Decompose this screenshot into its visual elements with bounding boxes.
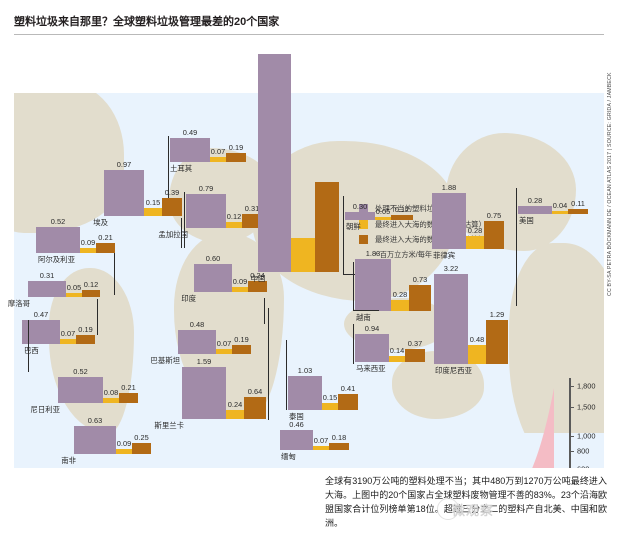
- country-label-myanmar: 缅甸: [281, 451, 296, 462]
- bar-ocean-low: 0.48: [468, 345, 486, 364]
- leader-line: [97, 299, 98, 335]
- bar-ocean-low: 0.28: [466, 236, 484, 249]
- bar-ocean-low: 0.07: [313, 446, 329, 450]
- bar-ocean-low: 0.07: [60, 339, 76, 344]
- country-label-morocco: 摩洛哥: [8, 298, 30, 309]
- bar-value-mismanaged: 1.83: [366, 249, 380, 258]
- country-label-india: 印度: [181, 293, 196, 304]
- bar-ocean-low: 0.08: [103, 398, 119, 403]
- bar-value-ocean-low: 0.28: [468, 226, 482, 235]
- bar-ocean-low: 0.14: [389, 356, 405, 362]
- source-credit: CC BY-SA PETRA BÖCKMANN DE / OCEAN ATLAS…: [603, 96, 617, 296]
- bar-value-ocean-high: 0.19: [78, 325, 92, 334]
- bar-mismanaged: 0.52: [36, 227, 80, 253]
- bar-ocean-high: 0.39: [162, 198, 182, 216]
- y-tick-mark: [569, 386, 574, 387]
- bar-ocean-high: 0.37: [405, 349, 425, 362]
- bar-ocean-low: 0.15: [144, 208, 162, 216]
- leader-line: [286, 340, 287, 410]
- bar-ocean-low: 0.09: [232, 287, 248, 292]
- footnote-text: 全球有3190万公吨的塑料处理不当；其中480万到1270万公吨最终进入大海。上…: [325, 474, 607, 530]
- bar-value-mismanaged: 0.63: [88, 416, 102, 425]
- bar-mismanaged: 0.30: [345, 212, 375, 220]
- bar-value-ocean-high: 1.29: [490, 310, 504, 319]
- bar-ocean-high: 0.18: [329, 443, 349, 450]
- bar-mismanaged: 3.22: [434, 274, 468, 364]
- title-divider: [14, 34, 604, 35]
- bar-ocean-low: 0.07: [210, 157, 226, 162]
- y-tick-label: 1,800: [577, 382, 596, 391]
- leader-line: [264, 298, 265, 324]
- bar-value-ocean-high: 0.41: [341, 384, 355, 393]
- bar-ocean-high: 0.19: [232, 345, 251, 354]
- bar-mismanaged: 0.49: [170, 138, 210, 162]
- bar-ocean-low: 0.09: [80, 248, 96, 253]
- bar-mismanaged: 8.82: [258, 55, 291, 272]
- bar-value-ocean-high: 0.21: [98, 233, 112, 242]
- bar-value-mismanaged: 0.94: [365, 324, 379, 333]
- country-label-turkey: 土耳其: [170, 163, 192, 174]
- bar-ocean-high: 1.29: [486, 320, 508, 364]
- production-y-axis: [569, 378, 571, 468]
- bar-mismanaged: 0.94: [355, 334, 389, 362]
- infographic-root: 塑料垃圾来自那里？全球塑料垃圾管理最差的20个国家 处理不当的塑料垃圾数量* 最…: [0, 0, 618, 553]
- country-label-sri-lanka: 斯里兰卡: [154, 420, 184, 431]
- global-production-chart: 1,800 1,500 1,000 800 600 400 200 1950 1…: [444, 378, 604, 468]
- bar-mismanaged: 1.59: [182, 367, 226, 419]
- bar-ocean-high: 0.75: [484, 221, 504, 249]
- bar-ocean-high: 0.64: [244, 397, 266, 419]
- bar-ocean-low: 0.05: [66, 293, 82, 297]
- bar-ocean-high: 0.11: [568, 209, 588, 214]
- bar-value-ocean-low: 0.09: [81, 238, 95, 247]
- leader-line: [353, 324, 354, 364]
- bar-mismanaged: 0.79: [186, 194, 226, 228]
- country-label-nigeria: 尼日利亚: [30, 404, 60, 415]
- watermark-circle: [437, 498, 459, 520]
- country-label-south-africa: 南非: [61, 455, 76, 466]
- bar-value-mismanaged: 0.60: [206, 254, 220, 263]
- leader-line: [184, 192, 185, 248]
- bar-value-ocean-low: 0.09: [117, 439, 131, 448]
- bar-value-ocean-high: 0.75: [487, 211, 501, 220]
- bar-mismanaged: 0.48: [178, 330, 216, 354]
- legend-swatch-ocean-high: [359, 235, 368, 244]
- bar-ocean-high: 0.21: [119, 393, 138, 403]
- bar-mismanaged: 0.60: [194, 264, 232, 292]
- bar-ocean-high: 0.12: [82, 290, 100, 297]
- y-tick-label: 1,000: [577, 432, 596, 441]
- y-tick-mark: [569, 407, 574, 408]
- y-tick-label: 1,500: [577, 403, 596, 412]
- bar-value-mismanaged: 0.46: [289, 420, 303, 429]
- y-tick-mark: [569, 451, 574, 452]
- bar-value-mismanaged: 0.28: [528, 196, 542, 205]
- leader-line: [168, 136, 169, 198]
- country-label-vietnam: 越南: [356, 312, 371, 323]
- bar-value-mismanaged: 0.79: [199, 184, 213, 193]
- bar-value-ocean-low: 0.15: [323, 393, 337, 402]
- bar-mismanaged: 0.63: [74, 426, 116, 454]
- bar-ocean-low: 0.28: [391, 300, 409, 311]
- bar-value-ocean-low: 0.28: [393, 290, 407, 299]
- bar-value-mismanaged: 3.22: [444, 264, 458, 273]
- country-label-malaysia: 马来西亚: [356, 363, 386, 374]
- bar-value-mismanaged: 0.49: [183, 128, 197, 137]
- bar-value-ocean-high: 0.73: [413, 275, 427, 284]
- bar-value-mismanaged: 0.48: [190, 320, 204, 329]
- leader-line: [28, 320, 29, 372]
- bar-value-ocean-high: 0.18: [332, 433, 346, 442]
- bar-value-ocean-low: 0.09: [233, 277, 247, 286]
- y-tick-mark: [569, 436, 574, 437]
- page-title: 塑料垃圾来自那里？全球塑料垃圾管理最差的20个国家: [14, 13, 279, 29]
- bar-mismanaged: 0.28: [518, 206, 552, 214]
- leader-line: [516, 188, 517, 306]
- bar-value-ocean-high: 0.19: [234, 335, 248, 344]
- bar-ocean-low: 0.04: [552, 211, 568, 214]
- bar-value-mismanaged: 0.97: [117, 160, 131, 169]
- bar-value-ocean-high: 0.21: [121, 383, 135, 392]
- bar-ocean-low: 0.09: [116, 449, 132, 454]
- leader-line: [114, 253, 115, 295]
- bar-ocean-high: 0.19: [76, 335, 95, 344]
- bar-value-ocean-low: 0.12: [227, 212, 241, 221]
- header: 塑料垃圾来自那里？全球塑料垃圾管理最差的20个国家: [0, 0, 618, 36]
- bar-value-mismanaged: 0.52: [51, 217, 65, 226]
- bar-ocean-low: 0.24: [226, 410, 244, 419]
- bar-mismanaged: 1.03: [288, 376, 322, 410]
- leader-line: [268, 308, 269, 420]
- bar-value-ocean-low: 0.48: [470, 335, 484, 344]
- bar-value-ocean-high: 0.11: [571, 199, 585, 208]
- bar-value-ocean-high: 0.39: [165, 188, 179, 197]
- bar-value-ocean-low: 0.05: [376, 207, 390, 216]
- bar-mismanaged: 0.97: [104, 170, 144, 216]
- bar-value-ocean-low: 0.07: [61, 329, 75, 338]
- bar-value-mismanaged: 1.03: [298, 366, 312, 375]
- bar-value-mismanaged: 0.52: [73, 367, 87, 376]
- country-label-algeria: 阿尔及利亚: [38, 254, 75, 265]
- bar-ocean-high: 0.12: [391, 215, 413, 220]
- country-label-philippines: 菲律宾: [433, 250, 455, 261]
- country-label-brazil: 巴西: [24, 345, 39, 356]
- bar-value-mismanaged: 0.47: [34, 310, 48, 319]
- bar-value-ocean-low: 0.07: [314, 436, 328, 445]
- bar-ocean-high: 0.41: [338, 394, 358, 410]
- bar-ocean-low: 0.05: [375, 217, 391, 220]
- bar-value-mismanaged: 1.88: [442, 183, 456, 192]
- bar-ocean-high: 0.21: [96, 243, 115, 253]
- y-tick-label: 800: [577, 447, 589, 456]
- leader-line: [353, 262, 354, 310]
- bar-ocean-high: 0.73: [409, 285, 431, 311]
- country-label-pakistan: 巴基斯坦: [150, 355, 180, 366]
- country-label-north-korea: 朝鲜: [346, 221, 361, 232]
- bar-value-mismanaged: 0.30: [353, 202, 367, 211]
- bar-value-ocean-high: 0.64: [248, 387, 262, 396]
- bar-value-ocean-low: 0.15: [146, 198, 160, 207]
- bar-mismanaged: 0.52: [58, 377, 103, 403]
- y-tick-label: 600: [577, 465, 589, 469]
- leader-line: [353, 310, 379, 311]
- bar-value-ocean-low: 0.24: [228, 400, 242, 409]
- production-curve: [444, 378, 569, 468]
- bar-value-ocean-low: 0.07: [217, 339, 231, 348]
- bar-ocean-high: 3.53: [315, 183, 339, 272]
- bar-value-ocean-low: 0.07: [211, 147, 225, 156]
- bar-value-mismanaged: 1.59: [197, 357, 211, 366]
- bar-mismanaged: 0.31: [28, 281, 66, 297]
- bar-value-ocean-high: 0.37: [408, 339, 422, 348]
- bar-value-mismanaged: 0.31: [40, 271, 54, 280]
- bar-ocean-low: 0.07: [216, 349, 232, 354]
- bar-value-ocean-high: 0.12: [84, 280, 98, 289]
- bar-value-ocean-low: 0.14: [390, 346, 404, 355]
- leader-line: [343, 196, 344, 274]
- bar-mismanaged: 1.83: [355, 259, 391, 311]
- bar-ocean-low: 1.32: [291, 239, 315, 272]
- bar-mismanaged: 0.46: [280, 430, 313, 450]
- bar-ocean-high: 0.25: [132, 443, 151, 454]
- bar-ocean-high: 0.19: [226, 153, 246, 162]
- legend-unit-note: * 百万立方米/每年: [375, 250, 489, 260]
- bar-mismanaged: 1.88: [432, 193, 466, 249]
- bar-ocean-low: 0.12: [226, 222, 242, 228]
- country-label-indonesia: 印度尼西亚: [435, 365, 472, 376]
- bar-value-ocean-low: 0.04: [553, 201, 567, 210]
- bar-value-ocean-high: 0.19: [229, 143, 243, 152]
- bar-value-ocean-low: 0.05: [67, 283, 81, 292]
- bar-ocean-low: 0.15: [322, 403, 338, 410]
- bar-value-ocean-high: 0.12: [395, 205, 409, 214]
- country-label-china: 中国: [251, 273, 266, 284]
- bar-value-ocean-high: 0.25: [134, 433, 148, 442]
- bar-value-ocean-low: 0.08: [104, 388, 118, 397]
- country-label-usa: 美国: [519, 215, 534, 226]
